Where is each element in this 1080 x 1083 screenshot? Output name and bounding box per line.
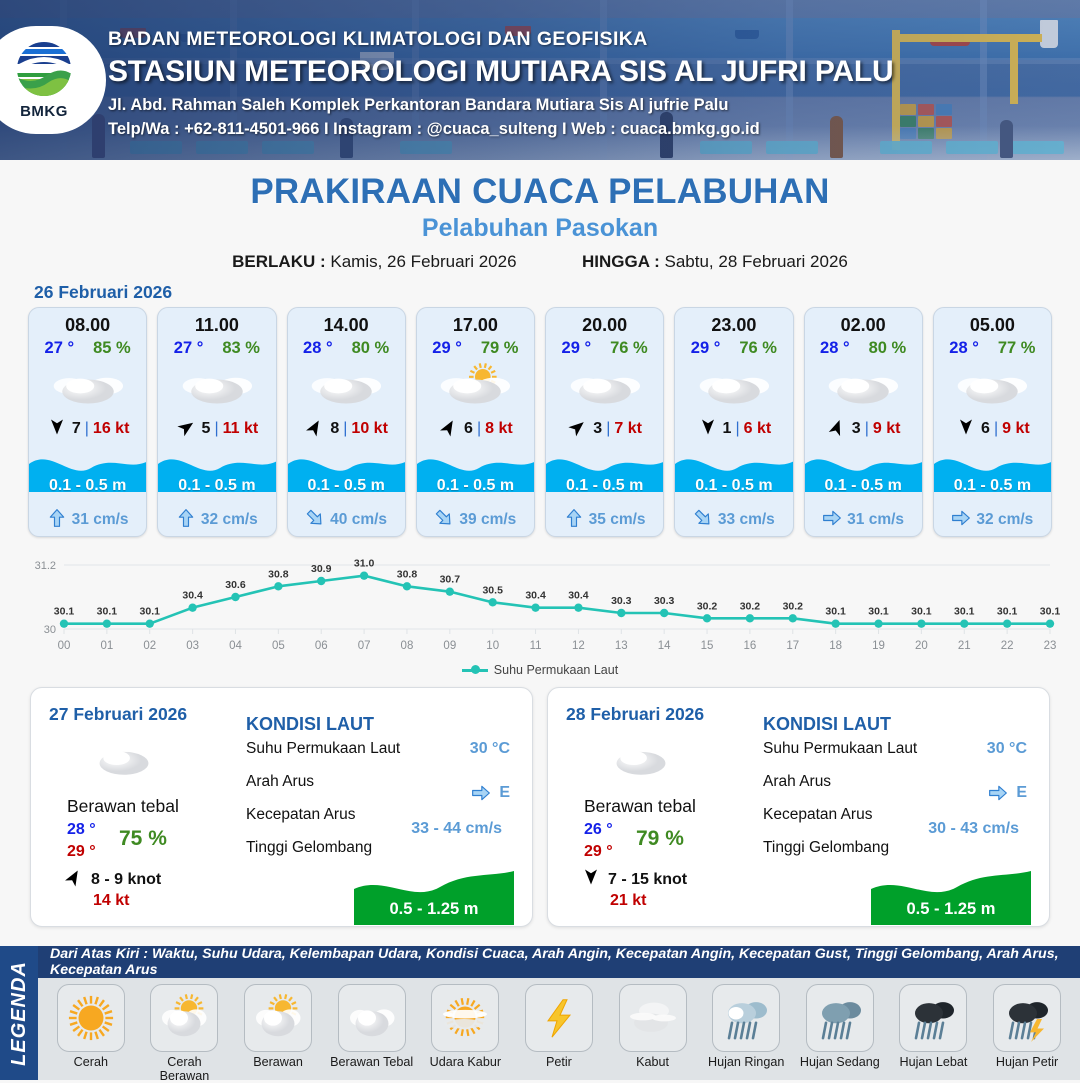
sun-icon [57, 984, 125, 1052]
card-wave-height: 0.1 - 0.5 m [417, 477, 534, 495]
card-wave-height: 0.1 - 0.5 m [675, 477, 792, 495]
wind-direction-value: 5 [202, 420, 211, 438]
title-block: PRAKIRAAN CUACA PELABUHAN Pelabuhan Paso… [0, 160, 1080, 272]
sea-condition-title: KONDISI LAUT [763, 714, 891, 735]
wave-height-badge: 0.5 - 1.25 m [871, 869, 1031, 925]
wind-gust-value: 8 kt [485, 420, 513, 438]
card-temp-hum-row: 28 ° 77 % [934, 336, 1051, 358]
svg-text:30.1: 30.1 [868, 606, 889, 618]
svg-text:21: 21 [958, 640, 971, 652]
legend-side-text: LEGENDA [8, 961, 31, 1066]
legend-item: Cerah [48, 984, 134, 1069]
svg-text:15: 15 [701, 640, 714, 652]
valid-from-value: Kamis, 26 Februari 2026 [330, 252, 516, 271]
daily-temp-max: 29 ° [584, 843, 613, 861]
card-time: 08.00 [29, 308, 146, 336]
svg-text:08: 08 [401, 640, 414, 652]
wind-separator: | [994, 420, 998, 438]
svg-text:09: 09 [443, 640, 456, 652]
sea-row-value: E [988, 783, 1027, 803]
sun-cloud-icon [150, 984, 218, 1052]
hourly-card: 11.00 27 ° 83 % 5 | 11 kt [157, 307, 276, 537]
card-time: 14.00 [288, 308, 405, 336]
card-time: 05.00 [934, 308, 1051, 336]
daily-temp-min: 28 ° [67, 821, 96, 839]
legend-item-label: Cerah [48, 1055, 134, 1069]
card-wave-block: 0.1 - 0.5 m [934, 446, 1051, 504]
legend-note: Dari Atas Kiri : Waktu, Suhu Udara, Kele… [38, 946, 1080, 978]
card-wind-row: 5 | 11 kt [158, 414, 275, 444]
moderate-rain-icon [806, 984, 874, 1052]
svg-text:02: 02 [143, 640, 156, 652]
svg-text:30.4: 30.4 [525, 590, 546, 602]
sea-row: Arah Arus E [763, 773, 1033, 806]
legend-item-label: Kabut [610, 1055, 696, 1069]
legend-item: Hujan Lebat [890, 984, 976, 1069]
hourly-card: 17.00 29 ° 79 % 6 | 8 kt [416, 307, 535, 537]
svg-text:30: 30 [44, 624, 56, 636]
heavy-rain-icon [899, 984, 967, 1052]
svg-text:30.1: 30.1 [54, 606, 75, 618]
current-speed-value: 40 cm/s [330, 511, 387, 529]
header-text-block: BADAN METEOROLOGI KLIMATOLOGI DAN GEOFIS… [108, 28, 893, 139]
sea-row-label: Tinggi Gelombang [246, 839, 372, 856]
legend-item: Udara Kabur [422, 984, 508, 1069]
agency-name: BADAN METEOROLOGI KLIMATOLOGI DAN GEOFIS… [108, 28, 893, 51]
station-name: STASIUN METEOROLOGI MUTIARA SIS AL JUFRI… [108, 55, 893, 89]
sea-row-label: Suhu Permukaan Laut [763, 740, 917, 757]
legend-item: Kabut [610, 984, 696, 1069]
wind-direction-arrow-icon [955, 418, 977, 441]
hourly-card: 20.00 29 ° 76 % 3 | 7 kt [545, 307, 664, 537]
legend-item: Hujan Sedang [797, 984, 883, 1069]
berawan-tebal-icon [546, 358, 663, 414]
sea-row: Kecepatan Arus30 - 43 cm/s [763, 806, 1033, 839]
card-current-row: 31 cm/s [805, 504, 922, 536]
legend-item-label: Hujan Sedang [797, 1055, 883, 1069]
svg-text:19: 19 [872, 640, 885, 652]
svg-text:30.1: 30.1 [997, 606, 1018, 618]
valid-until-label: HINGGA : [582, 252, 660, 271]
card-humidity: 76 % [739, 339, 777, 358]
svg-text:30.1: 30.1 [97, 606, 118, 618]
card-humidity: 79 % [481, 339, 519, 358]
card-wave-height: 0.1 - 0.5 m [546, 477, 663, 495]
page-subtitle: Pelabuhan Pasokan [0, 214, 1080, 243]
fog-icon [619, 984, 687, 1052]
wind-gust-value: 6 kt [744, 420, 772, 438]
card-temperature: 29 ° [562, 339, 592, 358]
sea-row-value: 33 - 44 cm/s [411, 820, 502, 838]
wind-direction-value: 8 [330, 420, 339, 438]
card-wave-height: 0.1 - 0.5 m [288, 477, 405, 495]
svg-text:12: 12 [572, 640, 585, 652]
legend-item-label: Hujan Petir [984, 1055, 1070, 1069]
berawan-tebal-icon [934, 358, 1051, 414]
daily-temp-max: 29 ° [67, 843, 96, 861]
svg-text:31.0: 31.0 [354, 558, 375, 570]
legend-item-label: Petir [516, 1055, 602, 1069]
svg-text:30.6: 30.6 [225, 579, 246, 591]
current-speed-value: 31 cm/s [847, 511, 904, 529]
card-wave-block: 0.1 - 0.5 m [417, 446, 534, 504]
bmkg-logo-text: BMKG [20, 103, 68, 120]
chart-legend-swatch [462, 669, 488, 672]
current-speed-value: 32 cm/s [976, 511, 1033, 529]
svg-text:14: 14 [658, 640, 671, 652]
current-direction-arrow-icon [305, 508, 325, 533]
hourly-forecast-cards: 08.00 27 ° 85 % 7 | 16 kt [0, 307, 1080, 537]
wind-gust-value: 9 kt [873, 420, 901, 438]
wind-separator: | [343, 420, 347, 438]
card-wave-height: 0.1 - 0.5 m [934, 477, 1051, 495]
svg-text:07: 07 [358, 640, 371, 652]
current-direction-arrow-icon [47, 508, 67, 533]
wind-gust-value: 9 kt [1002, 420, 1030, 438]
wind-direction-arrow-icon [438, 418, 460, 441]
card-wave-block: 0.1 - 0.5 m [805, 446, 922, 504]
thunderstorm-icon [993, 984, 1061, 1052]
current-speed-value: 31 cm/s [72, 511, 129, 529]
berawan-tebal-icon [29, 358, 146, 414]
legend-icon-list: Cerah Cerah Berawan [38, 980, 1080, 1080]
card-temp-hum-row: 28 ° 80 % [805, 336, 922, 358]
heavy-cloud-icon [338, 984, 406, 1052]
card-temperature: 27 ° [174, 339, 204, 358]
current-direction-letter: E [499, 784, 510, 802]
svg-text:17: 17 [786, 640, 799, 652]
hourly-card: 23.00 29 ° 76 % 1 | 6 kt [674, 307, 793, 537]
hourly-card: 02.00 28 ° 80 % 3 | 9 kt [804, 307, 923, 537]
daily-gust: 14 kt [93, 892, 129, 910]
daily-humidity: 79 % [636, 827, 684, 851]
card-temperature: 29 ° [691, 339, 721, 358]
current-direction-arrow-icon [693, 508, 713, 533]
card-wave-block: 0.1 - 0.5 m [288, 446, 405, 504]
legend-item: Cerah Berawan [141, 984, 227, 1083]
daily-panel: 28 Februari 2026 Berawan tebal 26 ° 29 °… [547, 687, 1050, 927]
svg-text:20: 20 [915, 640, 928, 652]
sea-row: Suhu Permukaan Laut30 °C [763, 740, 1033, 773]
card-time: 02.00 [805, 308, 922, 336]
card-wind-row: 3 | 9 kt [805, 414, 922, 444]
svg-text:30.2: 30.2 [697, 600, 718, 612]
svg-text:30.8: 30.8 [397, 568, 418, 580]
svg-text:31.2: 31.2 [35, 560, 56, 572]
svg-text:11: 11 [530, 640, 542, 652]
current-speed-value: 33 cm/s [718, 511, 775, 529]
card-current-row: 31 cm/s [29, 504, 146, 536]
cloud-sun-icon [244, 984, 312, 1052]
bmkg-logo-mark [13, 40, 75, 102]
svg-text:00: 00 [58, 640, 71, 652]
card-current-row: 32 cm/s [934, 504, 1051, 536]
card-wave-height: 0.1 - 0.5 m [805, 477, 922, 495]
card-time: 20.00 [546, 308, 663, 336]
sea-condition-title: KONDISI LAUT [246, 714, 374, 735]
legend-item: Petir [516, 984, 602, 1069]
daily-date: 27 Februari 2026 [49, 704, 187, 725]
svg-text:30.3: 30.3 [611, 595, 632, 607]
card-humidity: 83 % [222, 339, 260, 358]
current-direction-arrow-icon [434, 508, 454, 533]
card-temp-hum-row: 28 ° 80 % [288, 336, 405, 358]
sea-row-value: 30 - 43 cm/s [928, 820, 1019, 838]
wind-separator: | [477, 420, 481, 438]
card-wave-block: 0.1 - 0.5 m [675, 446, 792, 504]
wind-direction-arrow-icon [304, 418, 326, 441]
svg-text:30.4: 30.4 [568, 590, 589, 602]
sea-row: Arah Arus E [246, 773, 516, 806]
svg-text:16: 16 [744, 640, 757, 652]
daily-date: 28 Februari 2026 [566, 704, 704, 725]
svg-text:30.1: 30.1 [911, 606, 932, 618]
svg-text:30.2: 30.2 [740, 600, 761, 612]
sea-row: Tinggi Gelombang 0.5 - 1.25 m [763, 839, 1033, 872]
legend-item-label: Udara Kabur [422, 1055, 508, 1069]
daily-wind-range: 8 - 9 knot [91, 871, 161, 889]
card-humidity: 76 % [610, 339, 648, 358]
station-contact: Telp/Wa : +62-811-4501-966 I Instagram :… [108, 120, 893, 139]
current-direction-arrow-icon [822, 508, 842, 533]
svg-text:30.1: 30.1 [954, 606, 975, 618]
svg-text:30.1: 30.1 [1040, 606, 1061, 618]
card-current-row: 33 cm/s [675, 504, 792, 536]
wind-separator: | [85, 420, 89, 438]
legend-item: Berawan [235, 984, 321, 1069]
daily-forecast-panels: 27 Februari 2026 Berawan tebal 28 ° 29 °… [0, 677, 1080, 927]
card-wind-row: 7 | 16 kt [29, 414, 146, 444]
daily-wind-range: 7 - 15 knot [608, 871, 687, 889]
card-current-row: 35 cm/s [546, 504, 663, 536]
card-temperature: 28 ° [820, 339, 850, 358]
card-wind-row: 1 | 6 kt [675, 414, 792, 444]
card-current-row: 39 cm/s [417, 504, 534, 536]
svg-text:04: 04 [229, 640, 242, 652]
sea-condition-rows: Suhu Permukaan Laut30 °CArah Arus EKecep… [763, 740, 1033, 872]
legend-side-title: LEGENDA [0, 946, 38, 1080]
berawan-tebal-icon [288, 358, 405, 414]
wind-direction-arrow-icon [580, 868, 602, 891]
current-direction-arrow-icon [176, 508, 196, 533]
wind-gust-value: 16 kt [93, 420, 129, 438]
legend-section: LEGENDA Dari Atas Kiri : Waktu, Suhu Uda… [0, 946, 1080, 1080]
berawan-tebal-icon [158, 358, 275, 414]
svg-text:30.5: 30.5 [482, 584, 503, 596]
bmkg-logo: BMKG [0, 26, 106, 134]
wind-gust-value: 7 kt [614, 420, 642, 438]
card-temp-hum-row: 29 ° 76 % [546, 336, 663, 358]
card-wave-block: 0.1 - 0.5 m [29, 446, 146, 504]
sea-row-label: Arah Arus [246, 773, 314, 790]
legend-item-label: Berawan Tebal [329, 1055, 415, 1069]
wind-separator: | [214, 420, 218, 438]
current-direction-arrow-icon [951, 508, 971, 533]
chart-legend: Suhu Permukaan Laut [0, 663, 1080, 677]
daily-condition: Berawan tebal [67, 796, 179, 817]
sea-row: Kecepatan Arus33 - 44 cm/s [246, 806, 516, 839]
card-wind-row: 3 | 7 kt [546, 414, 663, 444]
card-wind-row: 6 | 8 kt [417, 414, 534, 444]
daily-condition: Berawan tebal [584, 796, 696, 817]
svg-text:06: 06 [315, 640, 328, 652]
daily-wind-row: 8 - 9 knot [63, 868, 161, 891]
svg-text:30.3: 30.3 [654, 595, 675, 607]
sea-row-label: Tinggi Gelombang [763, 839, 889, 856]
card-current-row: 32 cm/s [158, 504, 275, 536]
daily-humidity: 75 % [119, 827, 167, 851]
berawan-tebal-icon [675, 358, 792, 414]
card-temp-hum-row: 29 ° 76 % [675, 336, 792, 358]
valid-until-value: Sabtu, 28 Februari 2026 [665, 252, 848, 271]
hourly-date-label: 26 Februari 2026 [34, 282, 1080, 303]
wind-direction-value: 1 [723, 420, 732, 438]
wind-separator: | [865, 420, 869, 438]
cerah-berawan-icon [417, 358, 534, 414]
card-current-row: 40 cm/s [288, 504, 405, 536]
card-wind-row: 6 | 9 kt [934, 414, 1051, 444]
page-header: BMKG BADAN METEOROLOGI KLIMATOLOGI DAN G… [0, 0, 1080, 160]
wave-height-value: 0.5 - 1.25 m [354, 900, 514, 919]
wave-height-value: 0.5 - 1.25 m [871, 900, 1031, 919]
legend-item-label: Hujan Ringan [703, 1055, 789, 1069]
legend-item-label: Hujan Lebat [890, 1055, 976, 1069]
chart-legend-label: Suhu Permukaan Laut [494, 663, 618, 677]
wind-direction-value: 3 [852, 420, 861, 438]
legend-item-label: Berawan [235, 1055, 321, 1069]
wind-gust-value: 11 kt [223, 420, 259, 438]
card-time: 17.00 [417, 308, 534, 336]
card-temp-hum-row: 27 ° 85 % [29, 336, 146, 358]
svg-text:30.1: 30.1 [140, 606, 161, 618]
hourly-card: 14.00 28 ° 80 % 8 | 10 kt [287, 307, 406, 537]
sea-row-value: 30 °C [470, 740, 510, 758]
card-temperature: 29 ° [432, 339, 462, 358]
page-title: PRAKIRAAN CUACA PELABUHAN [0, 172, 1080, 212]
legend-item: Berawan Tebal [329, 984, 415, 1069]
current-speed-value: 32 cm/s [201, 511, 258, 529]
svg-text:30.4: 30.4 [182, 590, 203, 602]
card-temp-hum-row: 29 ° 79 % [417, 336, 534, 358]
svg-text:30.9: 30.9 [311, 563, 332, 575]
wind-direction-arrow-icon [826, 418, 848, 441]
daily-panel: 27 Februari 2026 Berawan tebal 28 ° 29 °… [30, 687, 533, 927]
daily-temp-min: 26 ° [584, 821, 613, 839]
card-temperature: 28 ° [303, 339, 333, 358]
wind-separator: | [735, 420, 739, 438]
svg-text:03: 03 [186, 640, 199, 652]
haze-icon [431, 984, 499, 1052]
current-direction-arrow-icon [564, 508, 584, 533]
wind-direction-arrow-icon [567, 418, 589, 441]
card-wave-block: 0.1 - 0.5 m [546, 446, 663, 504]
sea-row-label: Suhu Permukaan Laut [246, 740, 400, 757]
sea-row-label: Kecepatan Arus [246, 806, 355, 823]
svg-text:01: 01 [100, 640, 113, 652]
sea-row-label: Arah Arus [763, 773, 831, 790]
current-speed-value: 35 cm/s [589, 511, 646, 529]
card-humidity: 80 % [352, 339, 390, 358]
daily-gust: 21 kt [610, 892, 646, 910]
wave-height-badge: 0.5 - 1.25 m [354, 869, 514, 925]
sea-row-value: 30 °C [987, 740, 1027, 758]
legend-item: Hujan Ringan [703, 984, 789, 1069]
svg-text:30.7: 30.7 [440, 574, 461, 586]
wind-separator: | [606, 420, 610, 438]
berawan-tebal-icon [87, 736, 161, 785]
valid-from-label: BERLAKU : [232, 252, 326, 271]
card-wave-height: 0.1 - 0.5 m [158, 477, 275, 495]
sst-chart: 31.23030.10030.10130.10230.40330.60430.8… [18, 551, 1062, 661]
card-wave-height: 0.1 - 0.5 m [29, 477, 146, 495]
sea-row-value: E [471, 783, 510, 803]
svg-text:30.2: 30.2 [783, 600, 804, 612]
sea-row-label: Kecepatan Arus [763, 806, 872, 823]
card-wave-block: 0.1 - 0.5 m [158, 446, 275, 504]
wind-direction-value: 6 [981, 420, 990, 438]
lightning-icon [525, 984, 593, 1052]
legend-item-label: Cerah Berawan [141, 1055, 227, 1083]
hourly-card: 05.00 28 ° 77 % 6 | 9 kt [933, 307, 1052, 537]
daily-wind-row: 7 - 15 knot [580, 868, 687, 891]
wind-direction-arrow-icon [63, 868, 85, 891]
hourly-card: 08.00 27 ° 85 % 7 | 16 kt [28, 307, 147, 537]
card-temperature: 27 ° [45, 339, 75, 358]
wind-direction-arrow-icon [176, 418, 198, 441]
legend-item: Hujan Petir [984, 984, 1070, 1069]
svg-text:22: 22 [1001, 640, 1014, 652]
svg-text:30.1: 30.1 [825, 606, 846, 618]
berawan-tebal-icon [604, 736, 678, 785]
sea-condition-rows: Suhu Permukaan Laut30 °CArah Arus EKecep… [246, 740, 516, 872]
wind-direction-value: 7 [72, 420, 81, 438]
current-direction-letter: E [1016, 784, 1027, 802]
svg-text:05: 05 [272, 640, 285, 652]
berawan-tebal-icon [805, 358, 922, 414]
sea-row: Suhu Permukaan Laut30 °C [246, 740, 516, 773]
light-rain-icon [712, 984, 780, 1052]
card-wind-row: 8 | 10 kt [288, 414, 405, 444]
wind-gust-value: 10 kt [351, 420, 387, 438]
card-humidity: 80 % [869, 339, 907, 358]
card-temperature: 28 ° [949, 339, 979, 358]
card-humidity: 85 % [93, 339, 131, 358]
card-temp-hum-row: 27 ° 83 % [158, 336, 275, 358]
current-speed-value: 39 cm/s [459, 511, 516, 529]
card-humidity: 77 % [998, 339, 1036, 358]
svg-text:30.8: 30.8 [268, 568, 289, 580]
card-time: 11.00 [158, 308, 275, 336]
svg-text:10: 10 [486, 640, 499, 652]
wind-direction-arrow-icon [46, 418, 68, 441]
svg-text:18: 18 [829, 640, 842, 652]
svg-text:13: 13 [615, 640, 628, 652]
card-time: 23.00 [675, 308, 792, 336]
sea-row: Tinggi Gelombang 0.5 - 1.25 m [246, 839, 516, 872]
wind-direction-value: 6 [464, 420, 473, 438]
validity-line: BERLAKU : Kamis, 26 Februari 2026 HINGGA… [0, 252, 1080, 272]
wind-direction-arrow-icon [697, 418, 719, 441]
station-address: Jl. Abd. Rahman Saleh Komplek Perkantora… [108, 96, 893, 115]
wind-direction-value: 3 [593, 420, 602, 438]
svg-text:23: 23 [1044, 640, 1057, 652]
